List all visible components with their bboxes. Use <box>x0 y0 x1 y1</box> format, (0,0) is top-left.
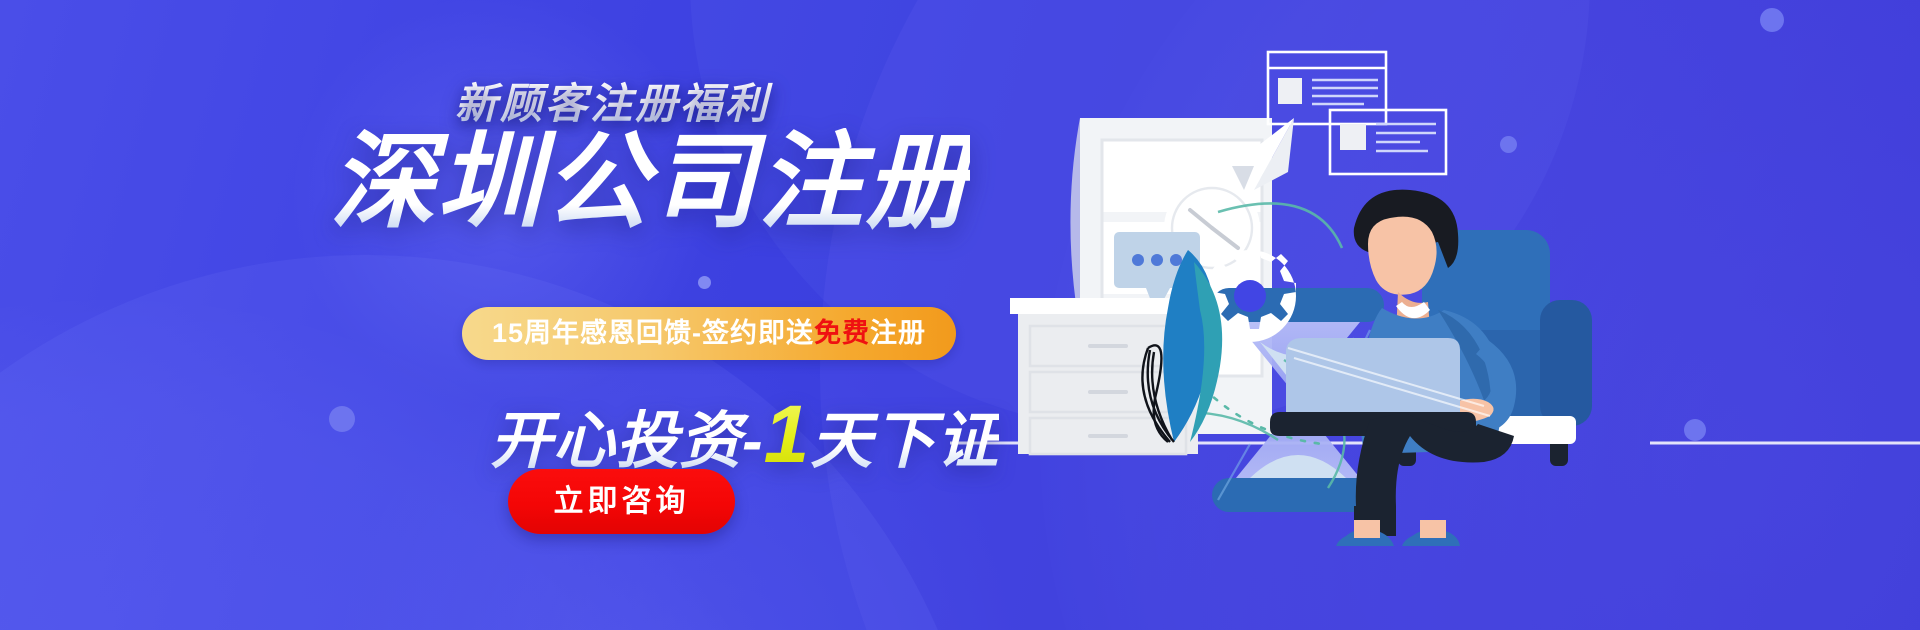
consult-now-label: 立即咨询 <box>554 487 690 517</box>
hero-illustration <box>950 0 1920 630</box>
tagline-after: 天下证 <box>810 407 999 476</box>
promo-banner: 新顾客注册福利 深圳公司注册 15周年感恩回馈-签约即送免费注册 开心投资-1天… <box>0 0 1920 630</box>
page-title: 深圳公司注册 <box>330 128 970 238</box>
tagline: 开心投资-1天下证 <box>490 388 1010 482</box>
banner-copy: 新顾客注册福利 深圳公司注册 15周年感恩回馈-签约即送免费注册 开心投资-1天… <box>0 0 1000 630</box>
eyebrow-text: 新顾客注册福利 <box>455 70 915 131</box>
promo-badge-prefix: 15周年感恩回馈-签约即送 <box>492 320 814 347</box>
tagline-number: 1 <box>764 389 811 480</box>
promo-badge-suffix: 注册 <box>870 320 926 347</box>
promo-badge: 15周年感恩回馈-签约即送免费注册 <box>462 307 956 360</box>
promo-badge-highlight: 免费 <box>814 320 870 347</box>
consult-now-button[interactable]: 立即咨询 <box>508 469 735 534</box>
tagline-before: 开心投资- <box>490 407 764 476</box>
